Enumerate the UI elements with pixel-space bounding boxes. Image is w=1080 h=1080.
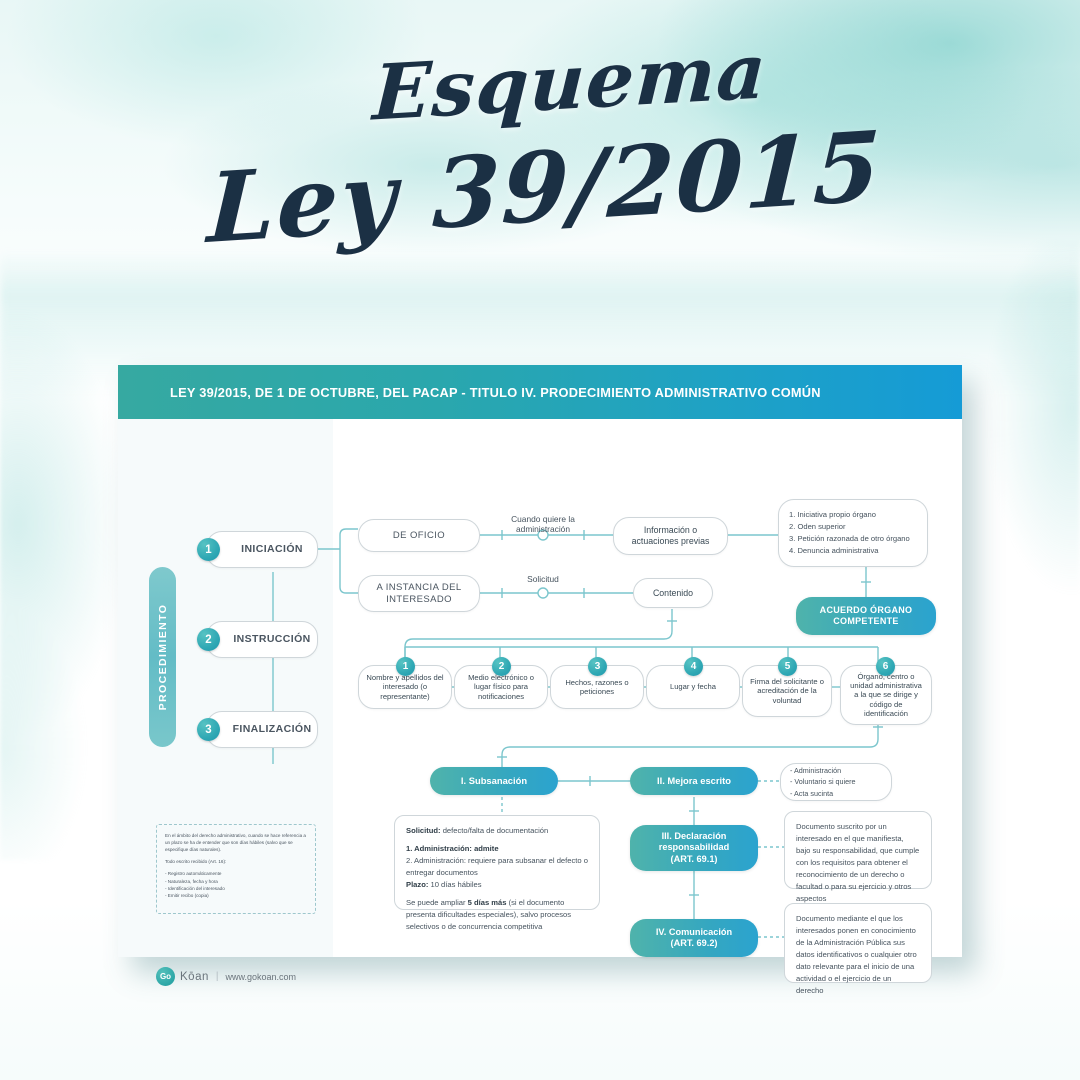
node-informacion-previas-label: Información o actuaciones previas	[632, 525, 710, 546]
declaracion-note-box[interactable]: Documento suscrito por un interesado en …	[784, 811, 932, 889]
phase-badge-3: 3	[197, 718, 220, 741]
contenido-item-label-3: Hechos, razones o peticiones	[558, 678, 636, 697]
node-de-oficio[interactable]: DE OFICIO	[358, 519, 480, 552]
subsanacion-item-1-text: 1. Administración: admite	[406, 844, 499, 853]
subsanacion-plazo-label: Plazo:	[406, 880, 428, 889]
phase-badge-1: 1	[197, 538, 220, 561]
subsanacion-item-1: 1. Administración: admite	[406, 843, 588, 855]
contenido-item-label-1: Nombre y apellidos del interesado (o rep…	[366, 673, 444, 701]
node-de-oficio-label: DE OFICIO	[393, 530, 445, 542]
edge-label-solicitud: Solicitud	[498, 574, 588, 585]
phase-label-iniciacion: INICIACIÓN	[241, 543, 303, 556]
dashed-note-box: En el ámbito del derecho administrativo,…	[156, 824, 316, 914]
subsanacion-note-box[interactable]: Solicitud: defecto/falta de documentació…	[394, 815, 600, 910]
origen-item-2: 2. Oden superior	[789, 521, 910, 533]
logo-url: www.gokoan.com	[225, 972, 296, 982]
subsanacion-lead-rest: defecto/falta de documentación	[441, 826, 549, 835]
procedimiento-rail-label: PROCEDIMIENTO	[157, 604, 169, 711]
phase-node-finalizacion[interactable]: FINALIZACIÓN	[206, 711, 318, 748]
contenido-item-badge-2: 2	[492, 657, 511, 676]
contenido-item-badge-4: 4	[684, 657, 703, 676]
contenido-item-label-4: Lugar y fecha	[670, 682, 716, 691]
poster-canvas: Esquema Ley 39/2015 LEY 39/2015, DE 1 DE…	[0, 0, 1080, 1080]
node-a-instancia[interactable]: A INSTANCIA DEL INTERESADO	[358, 575, 480, 612]
mejora-side-note[interactable]: - Administración - Voluntario si quiere …	[780, 763, 892, 801]
contenido-item-badge-3: 3	[588, 657, 607, 676]
mejora-item-2: - Voluntario si quiere	[790, 776, 856, 787]
subsanacion-item-2: 2. Administración: requiere para subsana…	[406, 855, 588, 879]
amp-bold: 5 días más	[468, 898, 507, 907]
card-header: LEY 39/2015, DE 1 DE OCTUBRE, DEL PACAP …	[118, 365, 962, 419]
stage-node-comunicacion[interactable]: IV. Comunicación (ART. 69.2)	[630, 919, 758, 957]
subsanacion-plazo: Plazo: 10 días hábiles	[406, 879, 588, 891]
logo-separator: |	[216, 971, 219, 982]
origenes-list: 1. Iniciativa propio órgano 2. Oden supe…	[789, 509, 910, 556]
phase-node-instruccion[interactable]: INSTRUCCIÓN	[206, 621, 318, 658]
stage-label-subsanacion: I. Subsanación	[461, 775, 527, 786]
stage-node-declaracion[interactable]: III. Declaración responsabilidad (ART. 6…	[630, 825, 758, 871]
footer-logo[interactable]: Go Kōan | www.gokoan.com	[156, 967, 296, 986]
comunicacion-note-box[interactable]: Documento mediante el que los interesado…	[784, 903, 932, 983]
stage-label-declaracion: III. Declaración responsabilidad (ART. 6…	[659, 831, 729, 865]
comunicacion-note-text: Documento mediante el que los interesado…	[796, 914, 917, 995]
node-acuerdo-organo[interactable]: ACUERDO ÓRGANO COMPETENTE	[796, 597, 936, 635]
contenido-item-label-2: Medio electrónico o lugar físico para no…	[462, 673, 540, 701]
node-a-instancia-label: A INSTANCIA DEL INTERESADO	[376, 582, 461, 605]
node-acuerdo-organo-label: ACUERDO ÓRGANO COMPETENTE	[820, 605, 913, 627]
phase-node-iniciacion[interactable]: INICIACIÓN	[206, 531, 318, 568]
stage-node-subsanacion[interactable]: I. Subsanación	[430, 767, 558, 795]
edge-label-solicitud-text: Solicitud	[527, 574, 559, 584]
amp-pre: Se puede ampliar	[406, 898, 468, 907]
subsanacion-lead-label: Solicitud:	[406, 826, 441, 835]
dashed-note-bullet-3: - Identificación del interesado	[165, 885, 308, 892]
mejora-item-1: - Administración	[790, 765, 856, 776]
origen-item-4: 4. Denuncia administrativa	[789, 545, 910, 557]
subsanacion-item-2-text: 2. Administración: requiere para subsana…	[406, 856, 588, 877]
node-origenes-iniciacion[interactable]: 1. Iniciativa propio órgano 2. Oden supe…	[778, 499, 928, 567]
logo-wordmark: Kōan	[180, 971, 209, 983]
declaracion-note-text: Documento suscrito por un interesado en …	[796, 822, 919, 903]
subsanacion-lead: Solicitud: defecto/falta de documentació…	[406, 825, 588, 837]
mejora-item-3: - Acta sucinta	[790, 788, 856, 799]
node-contenido-label: Contenido	[653, 588, 693, 599]
phase-badge-2: 2	[197, 628, 220, 651]
edge-label-cuando-quiere: Cuando quiere la administración	[486, 503, 600, 535]
contenido-item-badge-5: 5	[778, 657, 797, 676]
gokoan-logo-icon: Go	[156, 967, 175, 986]
stage-label-mejora: II. Mejora escrito	[657, 775, 731, 786]
phase-label-finalizacion: FINALIZACIÓN	[233, 723, 312, 736]
subsanacion-ampliacion: Se puede ampliar 5 días más (si el docum…	[406, 897, 588, 933]
contenido-item-label-5: Firma del solicitante o acreditación de …	[750, 677, 824, 705]
stage-node-mejora[interactable]: II. Mejora escrito	[630, 767, 758, 795]
dashed-note-bullet-1: - Registro automáticamente	[165, 870, 308, 877]
poster-headline: Esquema Ley 39/2015	[0, 46, 1080, 236]
card-body: PROCEDIMIENTO INICIACIÓN 1 INSTRUCCIÓN 2…	[118, 419, 962, 957]
node-informacion-previas[interactable]: Información o actuaciones previas	[613, 517, 728, 555]
contenido-item-badge-6: 6	[876, 657, 895, 676]
edge-label-cuando-quiere-text: Cuando quiere la administración	[511, 514, 575, 535]
origen-item-1: 1. Iniciativa propio órgano	[789, 509, 910, 521]
contenido-item-label-6: Órgano, centro o unidad administrativa a…	[848, 672, 924, 718]
card-header-title: LEY 39/2015, DE 1 DE OCTUBRE, DEL PACAP …	[170, 385, 821, 400]
dashed-note-subtitle: Todo escrito recibido (Art. 16):	[165, 858, 308, 865]
dashed-note-bullet-2: - Naturaleza, fecha y hora	[165, 878, 308, 885]
dashed-note-content: En el ámbito del derecho administrativo,…	[165, 832, 308, 899]
dashed-note-bullet-4: - Emitir recibo (copia)	[165, 892, 308, 899]
mejora-items-list: - Administración - Voluntario si quiere …	[790, 765, 856, 798]
stage-label-comunicacion: IV. Comunicación (ART. 69.2)	[656, 927, 732, 949]
phase-label-instruccion: INSTRUCCIÓN	[233, 633, 310, 646]
node-contenido[interactable]: Contenido	[633, 578, 713, 608]
subsanacion-plazo-rest: 10 días hábiles	[428, 880, 481, 889]
origen-item-3: 3. Petición razonada de otro órgano	[789, 533, 910, 545]
procedimiento-rail: PROCEDIMIENTO	[149, 567, 176, 747]
contenido-item-badge-1: 1	[396, 657, 415, 676]
diagram-card: LEY 39/2015, DE 1 DE OCTUBRE, DEL PACAP …	[118, 365, 962, 957]
dashed-note-paragraph: En el ámbito del derecho administrativo,…	[165, 832, 308, 853]
